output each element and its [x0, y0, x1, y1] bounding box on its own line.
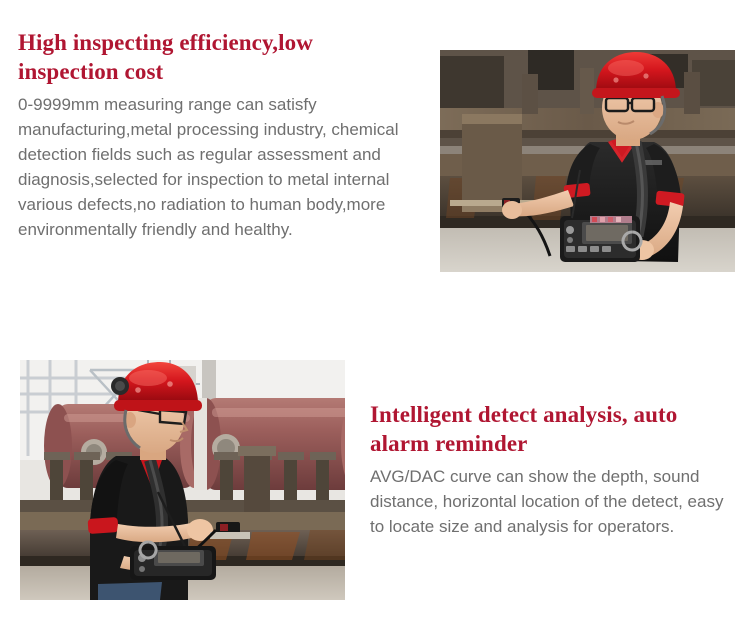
inspector-pressure-vessel-photo [20, 360, 345, 600]
inspector-pressure-vessel-illustration [20, 360, 345, 600]
inspector-steel-beam-illustration [440, 50, 735, 272]
feature-heading-two: Intelligent detect analysis, auto alarm … [370, 400, 725, 458]
feature-heading-one: High inspecting efficiency,low inspectio… [18, 28, 418, 86]
feature-section-analysis: Intelligent detect analysis, auto alarm … [0, 330, 750, 641]
feature-section-efficiency: High inspecting efficiency,low inspectio… [0, 0, 750, 330]
feature-text-block-two: Intelligent detect analysis, auto alarm … [370, 400, 725, 539]
feature-body-one: 0-9999mm measuring range can satisfy man… [18, 92, 418, 242]
inspector-steel-beam-photo [440, 50, 735, 272]
feature-body-two: AVG/DAC curve can show the depth, sound … [370, 464, 725, 539]
feature-text-block-one: High inspecting efficiency,low inspectio… [18, 28, 418, 242]
